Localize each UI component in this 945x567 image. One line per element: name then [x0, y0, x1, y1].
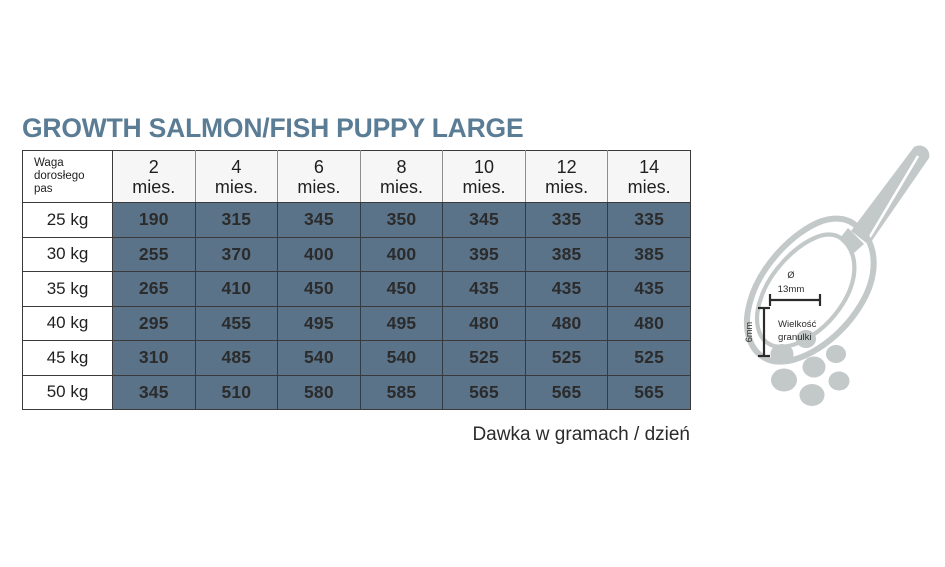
age-number: 8 [361, 157, 443, 177]
kibble-size-label-line-2: granulki [778, 332, 812, 343]
age-unit: mies. [361, 177, 443, 197]
table-caption: Dawka w gramach / dzień [22, 424, 691, 446]
dose-value: 480 [608, 306, 691, 341]
dose-value: 540 [360, 341, 443, 376]
scoop-illustration: Ø 13mm 6mm Wielkość granulki [718, 118, 945, 420]
table-row: 40 kg 295 455 495 495 480 480 480 [23, 306, 691, 341]
age-number: 6 [278, 157, 360, 177]
header-cell-age-8: 8 mies. [360, 151, 443, 203]
dose-value: 385 [608, 237, 691, 272]
age-number: 10 [443, 157, 525, 177]
weight-header-line-1: Waga [34, 157, 112, 170]
dose-value: 385 [525, 237, 608, 272]
age-number: 14 [608, 157, 690, 177]
dose-value: 410 [195, 272, 278, 307]
dose-value: 400 [278, 237, 361, 272]
dose-value: 345 [278, 203, 361, 238]
dose-value: 435 [608, 272, 691, 307]
height-value-label: 6mm [744, 321, 754, 342]
table-header: Waga dorosłego pas 2 mies. 4 mies. 6 m [23, 151, 691, 203]
dose-value: 485 [195, 341, 278, 376]
dose-value: 370 [195, 237, 278, 272]
feeding-table-container: Waga dorosłego pas 2 mies. 4 mies. 6 m [22, 150, 690, 410]
dose-value: 540 [278, 341, 361, 376]
dose-value: 265 [113, 272, 196, 307]
feeding-table: Waga dorosłego pas 2 mies. 4 mies. 6 m [22, 150, 691, 410]
header-cell-weight: Waga dorosłego pas [23, 151, 113, 203]
age-unit: mies. [526, 177, 608, 197]
dose-value: 435 [443, 272, 526, 307]
table-row: 30 kg 255 370 400 400 395 385 385 [23, 237, 691, 272]
weight-header-line-2: dorosłego [34, 170, 112, 183]
dose-value: 495 [278, 306, 361, 341]
dose-value: 255 [113, 237, 196, 272]
dose-value: 295 [113, 306, 196, 341]
table-row: 50 kg 345 510 580 585 565 565 565 [23, 375, 691, 410]
dose-value: 310 [113, 341, 196, 376]
dose-value: 335 [525, 203, 608, 238]
dose-value: 510 [195, 375, 278, 410]
dose-value: 335 [608, 203, 691, 238]
weight-label: 50 kg [23, 375, 113, 410]
dose-value: 580 [278, 375, 361, 410]
kibble-size-label-line-1: Wielkość [778, 319, 817, 330]
dose-value: 435 [525, 272, 608, 307]
header-row: Waga dorosłego pas 2 mies. 4 mies. 6 m [23, 151, 691, 203]
table-body: 25 kg 190 315 345 350 345 335 335 30 kg … [23, 203, 691, 410]
age-number: 12 [526, 157, 608, 177]
dose-value: 525 [525, 341, 608, 376]
header-cell-age-14: 14 mies. [608, 151, 691, 203]
table-row: 45 kg 310 485 540 540 525 525 525 [23, 341, 691, 376]
dose-value: 480 [525, 306, 608, 341]
dose-value: 315 [195, 203, 278, 238]
dose-value: 395 [443, 237, 526, 272]
dose-value: 400 [360, 237, 443, 272]
age-number: 2 [113, 157, 195, 177]
table-row: 35 kg 265 410 450 450 435 435 435 [23, 272, 691, 307]
age-number: 4 [196, 157, 278, 177]
header-cell-age-10: 10 mies. [443, 151, 526, 203]
dose-value: 480 [443, 306, 526, 341]
weight-label: 25 kg [23, 203, 113, 238]
dose-value: 350 [360, 203, 443, 238]
age-unit: mies. [278, 177, 360, 197]
weight-header-line-3: pas [34, 183, 112, 196]
scoop-graphic: Ø 13mm 6mm Wielkość granulki [744, 145, 929, 406]
dose-value: 190 [113, 203, 196, 238]
dose-value: 525 [608, 341, 691, 376]
age-unit: mies. [196, 177, 278, 197]
header-cell-age-2: 2 mies. [113, 151, 196, 203]
diameter-symbol-label: Ø [787, 270, 794, 280]
dose-value: 345 [443, 203, 526, 238]
dose-value: 565 [525, 375, 608, 410]
dose-value: 455 [195, 306, 278, 341]
dose-value: 585 [360, 375, 443, 410]
age-unit: mies. [443, 177, 525, 197]
age-unit: mies. [608, 177, 690, 197]
age-unit: mies. [113, 177, 195, 197]
weight-label: 30 kg [23, 237, 113, 272]
dose-value: 565 [443, 375, 526, 410]
dose-value: 345 [113, 375, 196, 410]
header-cell-age-6: 6 mies. [278, 151, 361, 203]
weight-label: 35 kg [23, 272, 113, 307]
dose-value: 565 [608, 375, 691, 410]
header-cell-age-12: 12 mies. [525, 151, 608, 203]
weight-label: 40 kg [23, 306, 113, 341]
feeding-guide-sheet: GROWTH SALMON/FISH PUPPY LARGE Waga doro… [0, 0, 945, 567]
table-row: 25 kg 190 315 345 350 345 335 335 [23, 203, 691, 238]
dose-value: 450 [360, 272, 443, 307]
dose-value: 495 [360, 306, 443, 341]
weight-label: 45 kg [23, 341, 113, 376]
diameter-value-label: 13mm [778, 284, 805, 295]
header-cell-age-4: 4 mies. [195, 151, 278, 203]
dose-value: 450 [278, 272, 361, 307]
page-title: GROWTH SALMON/FISH PUPPY LARGE [22, 113, 523, 144]
dose-value: 525 [443, 341, 526, 376]
